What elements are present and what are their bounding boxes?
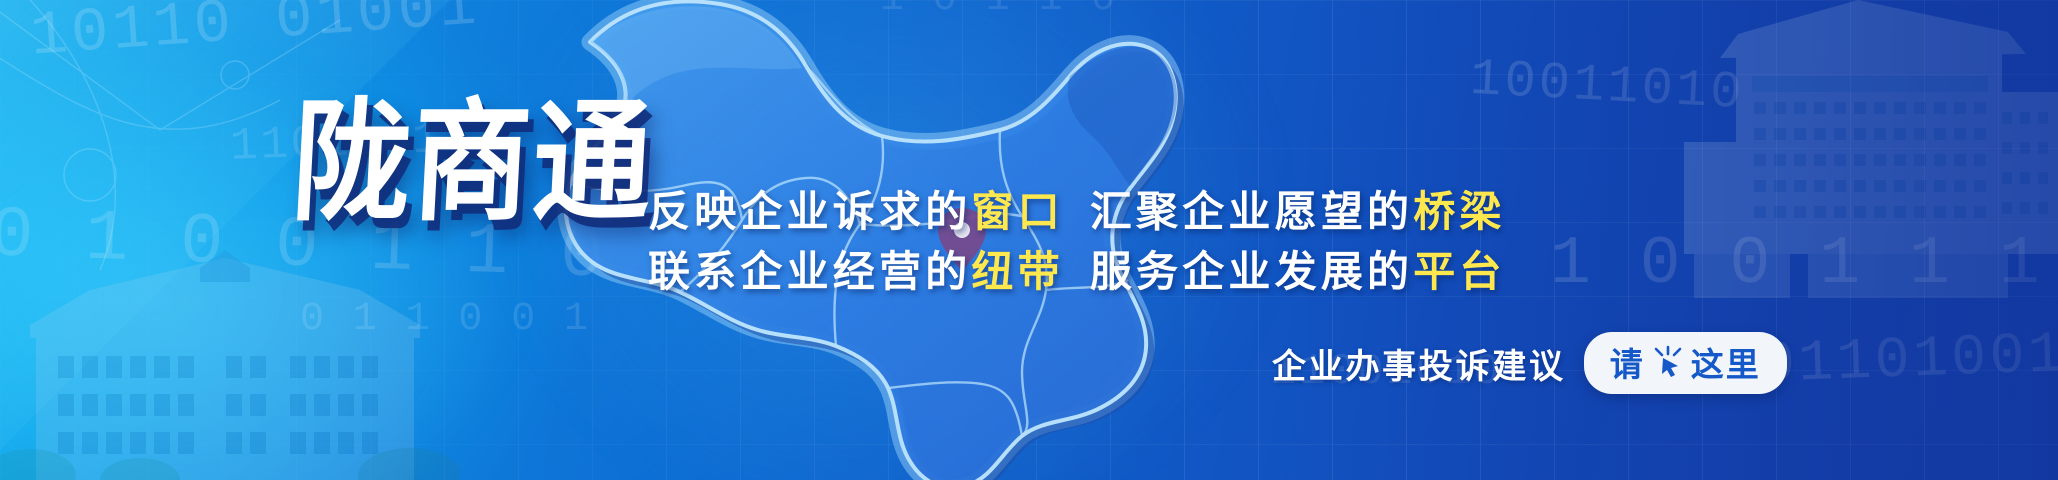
banner-title: 陇商通 bbox=[289, 96, 657, 228]
cta-row: 企业办事投诉建议 请 这里 bbox=[1272, 332, 1787, 394]
cta-button-suffix: 这里 bbox=[1691, 338, 1761, 386]
slogan-1-highlight-a: 窗口 bbox=[971, 187, 1063, 236]
cta-button-prefix: 请 bbox=[1610, 338, 1645, 386]
slogan-2-highlight-b: 平台 bbox=[1413, 247, 1505, 296]
slogan-line-1: 反映企业诉求的窗口汇聚企业愿望的桥梁 bbox=[648, 182, 1506, 242]
slogan-1-highlight-b: 桥梁 bbox=[1413, 187, 1505, 236]
cta-label: 企业办事投诉建议 bbox=[1272, 339, 1566, 388]
banner-root: 10110 01001 0 1 0 0 1 1 0 1101001 0 1 1 … bbox=[0, 0, 2058, 480]
slogan-1-plain-a: 反映企业诉求的 bbox=[648, 187, 971, 236]
slogan-2-plain-a: 联系企业经营的 bbox=[648, 247, 971, 296]
banner-content: 陇商通 反映企业诉求的窗口汇聚企业愿望的桥梁 联系企业经营的纽带服务企业发展的平… bbox=[0, 0, 2058, 480]
click-cursor-icon bbox=[1651, 345, 1685, 379]
slogan-1-plain-b: 汇聚企业愿望的 bbox=[1090, 187, 1413, 236]
slogan-2-highlight-a: 纽带 bbox=[971, 247, 1063, 296]
click-here-button[interactable]: 请 这里 bbox=[1584, 332, 1787, 394]
slogan-2-plain-b: 服务企业发展的 bbox=[1090, 247, 1413, 296]
slogan-block: 反映企业诉求的窗口汇聚企业愿望的桥梁 联系企业经营的纽带服务企业发展的平台 bbox=[648, 182, 1506, 301]
slogan-line-2: 联系企业经营的纽带服务企业发展的平台 bbox=[648, 242, 1506, 302]
